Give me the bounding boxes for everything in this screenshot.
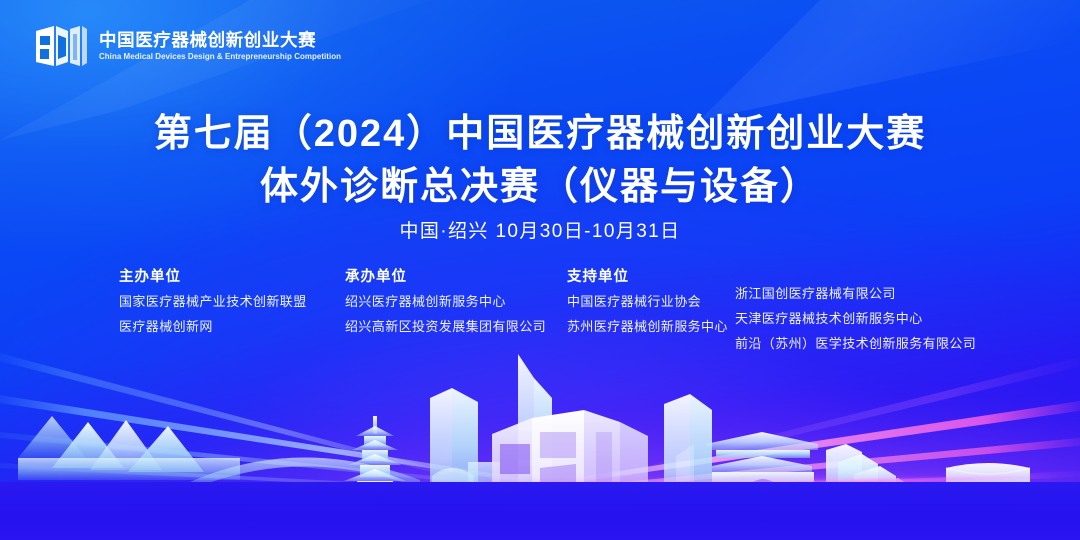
event-banner: 中国医疗器械创新创业大赛 China Medical Devices Desig… <box>0 0 1080 540</box>
organizer-item: 医疗器械创新网 <box>119 320 307 333</box>
ground-plane <box>0 482 1080 540</box>
organizer-column-undertaker: 承办单位 绍兴医疗器械创新服务中心 绍兴高新区投资发展集团有限公司 <box>345 265 546 345</box>
organizer-item: 苏州医疗器械创新服务中心 <box>567 320 728 333</box>
organizer-item: 浙江国创医疗器械有限公司 <box>735 287 976 300</box>
opera-house-building <box>18 416 240 480</box>
brand-logo[interactable]: 中国医疗器械创新创业大赛 China Medical Devices Desig… <box>34 22 349 70</box>
organizer-column-supporter-overflow: 浙江国创医疗器械有限公司 天津医疗器械技术创新服务中心 前沿（苏州）医学技术创新… <box>735 287 976 362</box>
organizer-item: 前沿（苏州）医学技术创新服务有限公司 <box>735 337 976 350</box>
organizers-section: 主办单位 国家医疗器械产业技术创新联盟 医疗器械创新网 承办单位 绍兴医疗器械创… <box>0 265 1080 365</box>
organizer-column-supporter: 支持单位 中国医疗器械行业协会 苏州医疗器械创新服务中心 <box>567 265 728 345</box>
event-location-date: 中国·绍兴 10月30日-10月31日 <box>0 216 1080 243</box>
organizer-item: 中国医疗器械行业协会 <box>567 295 728 308</box>
organizer-item: 国家医疗器械产业技术创新联盟 <box>119 295 307 308</box>
brand-name-cn: 中国医疗器械创新创业大赛 <box>99 31 349 51</box>
brand-name-en: China Medical Devices Design & Entrepren… <box>99 52 341 61</box>
event-title-line-1: 第七届（2024）中国医疗器械创新创业大赛 <box>0 108 1080 161</box>
organizer-heading-host: 主办单位 <box>119 265 307 286</box>
organizer-item: 天津医疗器械技术创新服务中心 <box>735 312 976 325</box>
organizer-heading-undertaker: 承办单位 <box>345 265 546 286</box>
competition-door-logo-icon <box>34 22 88 70</box>
organizer-heading-supporter: 支持单位 <box>567 265 728 286</box>
organizer-item: 绍兴高新区投资发展集团有限公司 <box>345 320 546 333</box>
organizer-item: 绍兴医疗器械创新服务中心 <box>345 295 546 308</box>
brand-logo-text: 中国医疗器械创新创业大赛 China Medical Devices Desig… <box>99 31 349 62</box>
event-title-line-2: 体外诊断总决赛（仪器与设备） <box>0 161 1080 214</box>
event-title: 第七届（2024）中国医疗器械创新创业大赛 体外诊断总决赛（仪器与设备） <box>0 108 1080 214</box>
organizer-column-host: 主办单位 国家医疗器械产业技术创新联盟 医疗器械创新网 <box>119 265 307 345</box>
